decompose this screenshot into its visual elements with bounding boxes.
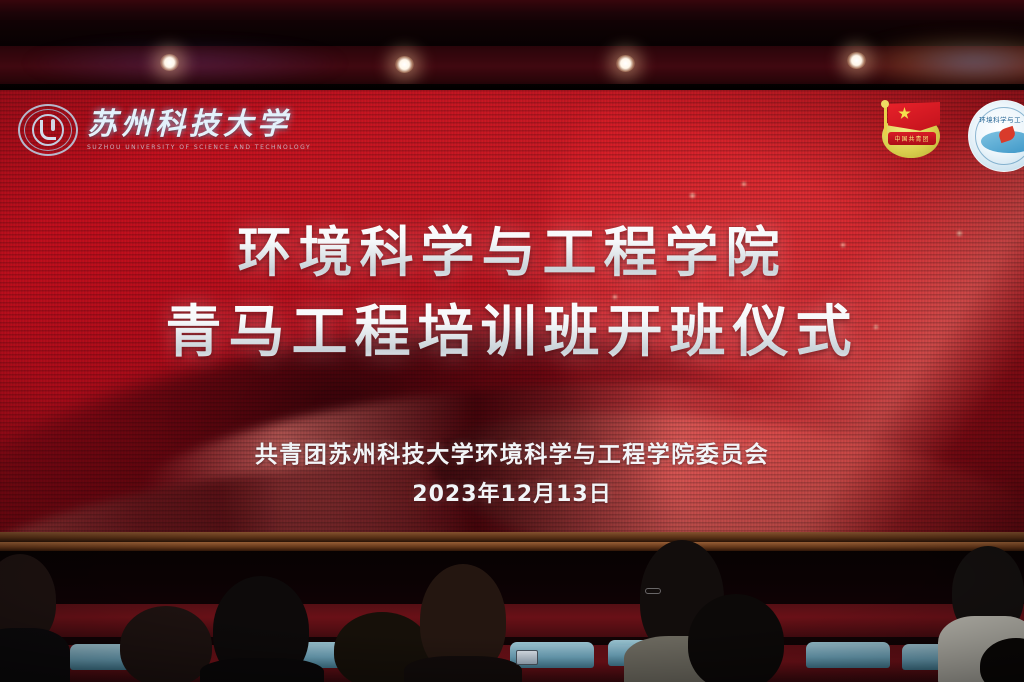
- hall-rail-lower: [0, 542, 1024, 551]
- auditorium-scene: 苏州科技大学 SUZHOU UNIVERSITY OF SCIENCE AND …: [0, 0, 1024, 682]
- audience-person: [200, 658, 324, 682]
- ceiling-spotlight: [395, 56, 414, 73]
- ceiling: [0, 0, 1024, 90]
- audience-person: [120, 606, 212, 682]
- audience-area: [0, 532, 1024, 682]
- banner-date: 2023年12月13日: [0, 476, 1024, 508]
- audience-person: [688, 594, 784, 682]
- eyeglasses: [645, 588, 661, 594]
- banner-organizer: 共青团苏州科技大学环境科学与工程学院委员会: [0, 435, 1024, 469]
- phone-screen: [516, 650, 538, 665]
- ceiling-spotlight: [847, 52, 866, 69]
- ceiling-glow-right: [860, 36, 1024, 88]
- audience-person: [404, 656, 522, 682]
- banner-text-block: 环境科学与工程学院 青马工程培训班开班仪式 共青团苏州科技大学环境科学与工程学院…: [0, 90, 1024, 532]
- ceiling-spotlight: [616, 55, 635, 72]
- banner-title-line-1: 环境科学与工程学院: [0, 208, 1024, 287]
- hall-rail-upper: [0, 532, 1024, 542]
- seat: [806, 642, 890, 668]
- ceiling-spotlight: [160, 54, 179, 71]
- ceiling-glow-left: [20, 40, 350, 86]
- banner-title-line-2: 青马工程培训班开班仪式: [0, 287, 1024, 368]
- audience-person: [0, 628, 70, 682]
